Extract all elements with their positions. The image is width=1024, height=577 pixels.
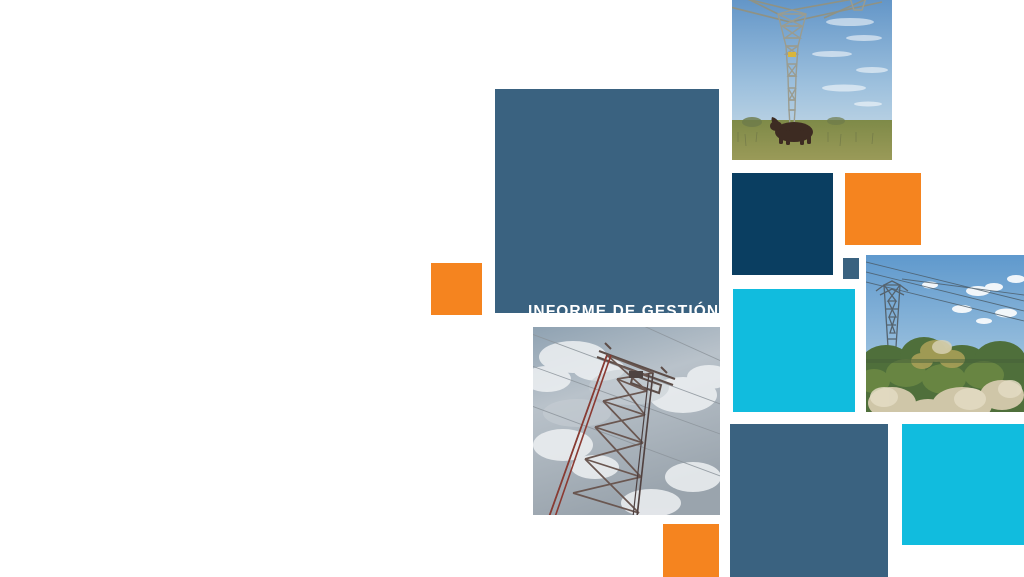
- orange-square-left: [431, 263, 482, 315]
- tower-cow-illustration: [732, 0, 892, 160]
- photo-transmission-tower-with-cow: [732, 0, 892, 160]
- navy-square-top: [732, 173, 833, 275]
- tower-sky-illustration: [533, 327, 720, 515]
- photo-transmission-tower-over-vegetation: [866, 255, 1024, 412]
- cyan-square-bottom: [902, 424, 1024, 545]
- orange-square-top: [845, 173, 921, 245]
- orange-square-bottom: [663, 524, 719, 577]
- steel-square-bottom: [730, 424, 888, 577]
- title-panel: INFORME DE GESTIÓN 2014: [495, 89, 719, 313]
- tower-trees-illustration: [866, 255, 1024, 412]
- report-cover-page: INFORME DE GESTIÓN 2014: [0, 0, 1024, 577]
- steel-square-small: [843, 258, 859, 279]
- cyan-square-middle: [733, 289, 855, 412]
- photo-transmission-tower-against-clouds: [533, 327, 720, 515]
